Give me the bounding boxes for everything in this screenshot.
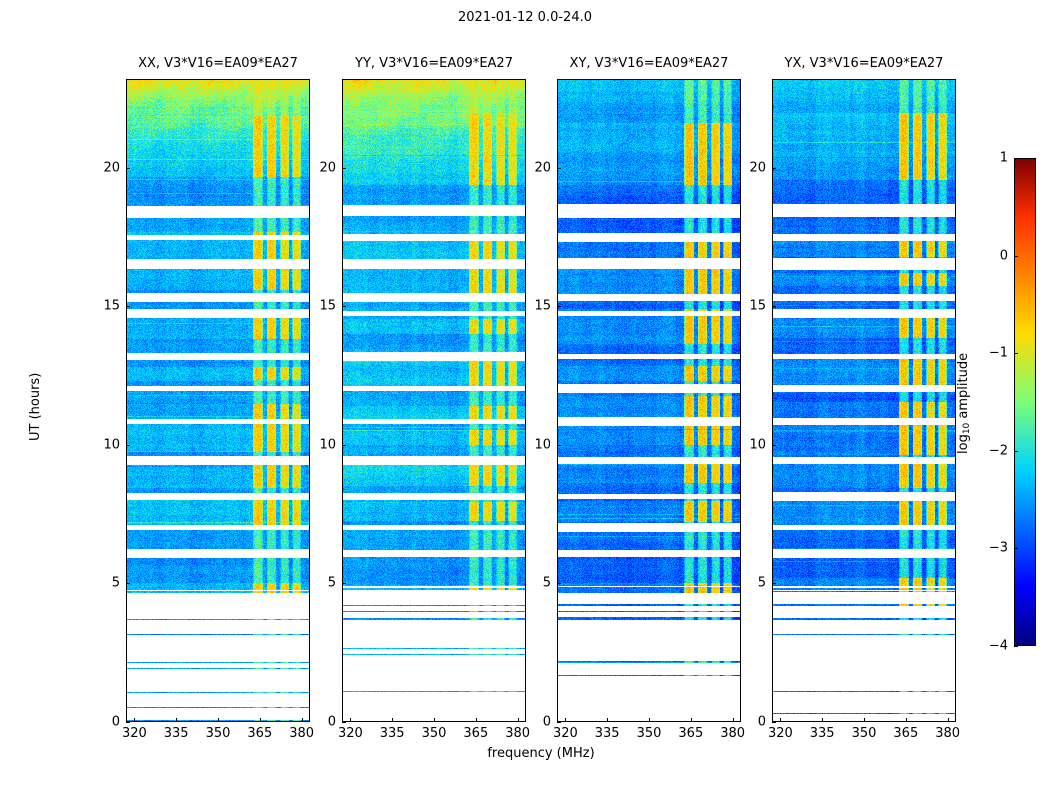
x-tick-label: 350	[637, 726, 662, 741]
x-tick-mark	[948, 718, 949, 722]
figure-suptitle: 2021-01-12 0.0-24.0	[0, 10, 1050, 25]
panel-title-xx: XX, V3*V16=EA09*EA27	[126, 56, 310, 71]
x-tick-label: 320	[122, 726, 147, 741]
x-tick-label: 320	[338, 726, 363, 741]
x-tick-mark	[350, 718, 351, 722]
y-tick-label: 15	[740, 299, 766, 314]
spectrum-panel-xy: XY, V3*V16=EA09*EA27	[557, 79, 741, 722]
y-tick-mark	[772, 583, 776, 584]
x-tick-label: 365	[893, 726, 918, 741]
y-tick-label: 10	[740, 437, 766, 452]
y-tick-label: 0	[740, 715, 766, 730]
colorbar-tick-label: −1	[980, 346, 1008, 361]
x-tick-mark	[649, 718, 650, 722]
y-tick-mark	[342, 722, 346, 723]
dynamic-spectrum-xx	[126, 79, 310, 722]
y-tick-mark	[342, 306, 346, 307]
x-tick-mark	[691, 718, 692, 722]
x-tick-mark	[864, 718, 865, 722]
dynamic-spectrum-yx	[772, 79, 956, 722]
colorbar-tick-mark	[1014, 256, 1018, 257]
colorbar-tick-mark	[1014, 353, 1018, 354]
y-tick-mark	[772, 445, 776, 446]
x-tick-mark	[302, 718, 303, 722]
y-tick-mark	[126, 583, 130, 584]
x-tick-mark	[607, 718, 608, 722]
colorbar-tick-label: 1	[980, 151, 1008, 166]
x-tick-label: 350	[206, 726, 231, 741]
x-tick-mark	[176, 718, 177, 722]
x-tick-label: 380	[935, 726, 960, 741]
y-tick-label: 0	[525, 715, 551, 730]
y-tick-label: 15	[310, 299, 336, 314]
x-tick-label: 350	[852, 726, 877, 741]
x-tick-mark	[518, 718, 519, 722]
x-tick-mark	[134, 718, 135, 722]
x-tick-label: 335	[164, 726, 189, 741]
y-tick-mark	[557, 583, 561, 584]
x-tick-label: 335	[380, 726, 405, 741]
x-tick-mark	[392, 718, 393, 722]
colorbar-tick-label: −2	[980, 443, 1008, 458]
colorbar-label-suffix: amplitude	[956, 353, 971, 423]
colorbar-tick-mark	[1014, 158, 1018, 159]
colorbar-tick-mark	[1014, 451, 1018, 452]
x-tick-label: 365	[463, 726, 488, 741]
dynamic-spectrum-yy	[342, 79, 526, 722]
y-tick-mark	[772, 722, 776, 723]
y-tick-label: 15	[525, 299, 551, 314]
y-tick-mark	[772, 168, 776, 169]
x-tick-label: 335	[810, 726, 835, 741]
y-tick-label: 5	[310, 576, 336, 591]
y-tick-mark	[557, 168, 561, 169]
colorbar-tick-label: −4	[980, 639, 1008, 654]
x-tick-label: 350	[422, 726, 447, 741]
y-tick-label: 20	[310, 160, 336, 175]
y-tick-label: 20	[525, 160, 551, 175]
dynamic-spectrum-xy	[557, 79, 741, 722]
colorbar-tick-mark	[1014, 646, 1018, 647]
colorbar-label-prefix: log	[956, 434, 971, 454]
panel-title-yy: YY, V3*V16=EA09*EA27	[342, 56, 526, 71]
colorbar-tick-label: −3	[980, 541, 1008, 556]
x-tick-mark	[822, 718, 823, 722]
y-tick-mark	[126, 445, 130, 446]
y-tick-label: 10	[310, 437, 336, 452]
y-tick-mark	[342, 445, 346, 446]
colorbar	[1014, 158, 1036, 646]
x-tick-label: 335	[595, 726, 620, 741]
x-tick-mark	[733, 718, 734, 722]
x-tick-label: 320	[553, 726, 578, 741]
x-tick-label: 320	[768, 726, 793, 741]
x-tick-mark	[906, 718, 907, 722]
y-axis-label: UT (hours)	[28, 372, 43, 440]
colorbar-tick-mark	[1014, 548, 1018, 549]
y-tick-mark	[557, 306, 561, 307]
spectrum-panel-yx: YX, V3*V16=EA09*EA27	[772, 79, 956, 722]
y-tick-mark	[342, 583, 346, 584]
y-tick-mark	[342, 168, 346, 169]
y-tick-label: 20	[740, 160, 766, 175]
figure-canvas: 2021-01-12 0.0-24.0 XX, V3*V16=EA09*EA27…	[0, 0, 1050, 800]
y-tick-mark	[126, 306, 130, 307]
x-tick-label: 365	[678, 726, 703, 741]
colorbar-tick-label: 0	[980, 248, 1008, 263]
y-tick-mark	[557, 445, 561, 446]
spectrum-panel-xx: XX, V3*V16=EA09*EA27	[126, 79, 310, 722]
y-tick-mark	[772, 306, 776, 307]
y-tick-label: 0	[94, 715, 120, 730]
y-tick-mark	[557, 722, 561, 723]
y-tick-label: 20	[94, 160, 120, 175]
x-tick-mark	[434, 718, 435, 722]
x-tick-mark	[476, 718, 477, 722]
y-tick-mark	[126, 168, 130, 169]
x-tick-mark	[260, 718, 261, 722]
y-tick-label: 10	[94, 437, 120, 452]
spectrum-panel-yy: YY, V3*V16=EA09*EA27	[342, 79, 526, 722]
x-tick-mark	[780, 718, 781, 722]
x-tick-mark	[565, 718, 566, 722]
y-tick-mark	[126, 722, 130, 723]
colorbar-label: log10 amplitude	[956, 353, 972, 454]
panel-title-xy: XY, V3*V16=EA09*EA27	[557, 56, 741, 71]
y-tick-label: 10	[525, 437, 551, 452]
colorbar-frame	[1014, 158, 1036, 646]
x-axis-label: frequency (MHz)	[126, 746, 956, 761]
y-tick-label: 5	[740, 576, 766, 591]
x-tick-label: 365	[247, 726, 272, 741]
colorbar-label-subscript: 10	[962, 423, 972, 434]
x-tick-mark	[218, 718, 219, 722]
y-tick-label: 15	[94, 299, 120, 314]
y-tick-label: 5	[525, 576, 551, 591]
panel-title-yx: YX, V3*V16=EA09*EA27	[772, 56, 956, 71]
y-tick-label: 0	[310, 715, 336, 730]
y-tick-label: 5	[94, 576, 120, 591]
